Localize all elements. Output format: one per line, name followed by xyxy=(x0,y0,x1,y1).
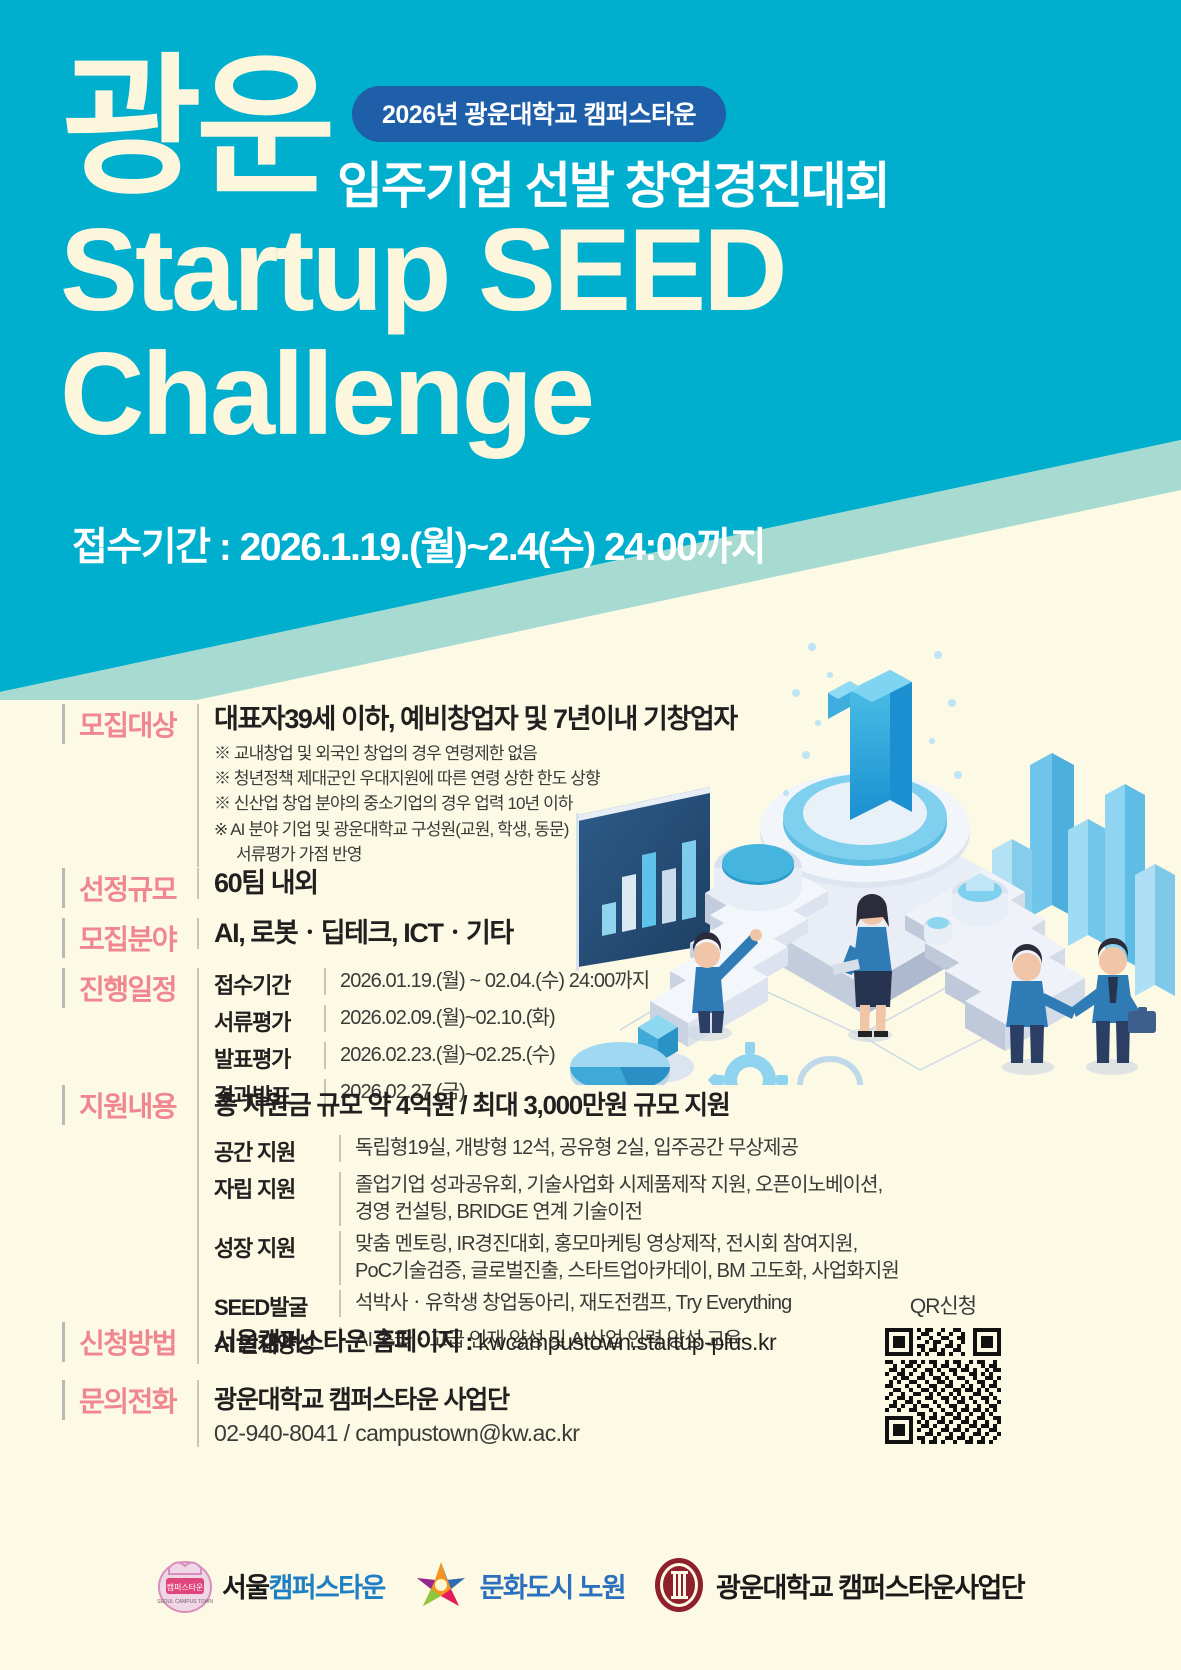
qr-label: QR신청 xyxy=(878,1290,1008,1320)
label-schedule: 진행일정 xyxy=(62,968,197,1008)
label-target: 모집대상 xyxy=(62,704,197,744)
support-val-1: 독립형19실, 개방형 12석, 공유형 2실, 입주공간 무상제공 xyxy=(339,1135,798,1162)
schedule-val-1: 2026.01.19.(월) ~ 02.04.(수) 24:00까지 xyxy=(324,968,649,995)
support-val-2-line1: 졸업기업 성과공유회, 기술사업화 시제품제작 지원, 오픈이노베이션, xyxy=(355,1172,882,1199)
kwangwoon-university-seal-icon xyxy=(651,1556,707,1614)
support-val-3-line2: PoC기술검증, 글로벌진출, 스타트업아카데이, BM 고도화, 사업화지원 xyxy=(355,1258,899,1285)
target-headline: 대표자39세 이하, 예비창업자 및 7년이내 기창업자 xyxy=(214,704,737,735)
footer-logos: 캠퍼스타운 SEOUL CAMPUS TOWN 서울캠퍼스타운 문화도시 노원 … xyxy=(0,1540,1181,1630)
support-key-1: 공간 지원 xyxy=(214,1135,339,1167)
target-note-5: 서류평가 가점 반영 xyxy=(214,842,737,867)
support-val-3: 맞춤 멘토링, IR경진대회, 홍모마케팅 영상제작, 전시회 참여지원, Po… xyxy=(339,1231,899,1285)
value-scale: 60팀 내외 xyxy=(197,868,318,899)
schedule-item: 서류평가 2026.02.09.(월)~02.10.(화) xyxy=(214,1005,649,1037)
support-headline: 총 지원금 규모 약 4억원 / 최대 3,000만원 규모 지원 xyxy=(214,1085,899,1122)
label-contact: 문의전화 xyxy=(62,1380,197,1420)
logo-seoul-accent: 캠퍼스타운 xyxy=(268,1573,384,1603)
value-apply: 서울캠퍼스타운 홈페이지 : kwcampustown.startup-plus… xyxy=(197,1322,776,1358)
row-target: 모집대상 대표자39세 이하, 예비창업자 및 7년이내 기창업자 ※ 교내창업… xyxy=(62,704,737,867)
hero-banner: 광운 2026년 광운대학교 캠퍼스타운 입주기업 선발 창업경진대회 Star… xyxy=(0,0,1181,700)
support-val-2: 졸업기업 성과공유회, 기술사업화 시제품제작 지원, 오픈이노베이션, 경영 … xyxy=(339,1172,882,1226)
logo-seoul-campustown-text: 서울캠퍼스타운 xyxy=(222,1566,385,1605)
event-title-line2: Challenge xyxy=(60,338,592,449)
logo-kwangwoon: 광운대학교 캠퍼스타운사업단 xyxy=(651,1556,1024,1614)
scale-value: 60팀 내외 xyxy=(214,868,318,899)
support-val-4-line1: 석박사ㆍ유학생 창업동아리, 재도전캠프, Try Everything xyxy=(355,1290,791,1317)
logo-seoul-campustown: 캠퍼스타운 SEOUL CAMPUS TOWN 서울캠퍼스타운 xyxy=(157,1556,385,1614)
schedule-val-3: 2026.02.23.(월)~02.25.(수) xyxy=(324,1042,555,1069)
support-val-3-line1: 맞춤 멘토링, IR경진대회, 홍모마케팅 영상제작, 전시회 참여지원, xyxy=(355,1231,899,1258)
schedule-key-2: 서류평가 xyxy=(214,1005,324,1037)
row-contact: 문의전화 광운대학교 캠퍼스타운 사업단 02-940-8041 / campu… xyxy=(62,1380,579,1447)
support-key-3: 성장 지원 xyxy=(214,1231,339,1263)
schedule-key-3: 발표평가 xyxy=(214,1042,324,1074)
support-key-2: 자립 지원 xyxy=(214,1172,339,1204)
support-item: SEED발굴 석박사ㆍ유학생 창업동아리, 재도전캠프, Try Everyth… xyxy=(214,1290,899,1322)
event-title-line1: Startup SEED xyxy=(60,214,785,325)
logo-seoul-pre: 서울 xyxy=(222,1573,268,1603)
label-fields: 모집분야 xyxy=(62,918,197,958)
seoul-campustown-emblem-icon: 캠퍼스타운 SEOUL CAMPUS TOWN xyxy=(157,1556,213,1614)
contact-detail: 02-940-8041 / campustown@kw.ac.kr xyxy=(214,1420,579,1447)
label-scale: 선정규모 xyxy=(62,868,197,908)
nowon-star-icon xyxy=(411,1556,471,1614)
apply-prefix: 서울캠퍼스타운 홈페이지 : xyxy=(214,1328,478,1356)
qr-code-icon[interactable] xyxy=(885,1328,1001,1444)
row-fields: 모집분야 AI, 로봇ㆍ딥테크, ICTㆍ기타 xyxy=(62,918,513,958)
row-scale: 선정규모 60팀 내외 xyxy=(62,868,318,908)
target-note-3: ※ 신산업 창업 분야의 중소기업의 경우 업력 10년 이하 xyxy=(214,791,737,816)
target-note-2: ※ 청년정책 제대군인 우대지원에 따른 연령 상한 한도 상향 xyxy=(214,766,737,791)
logo-nowon-accent: 문화도시 노원 xyxy=(480,1573,625,1603)
logo-nowon-text: 문화도시 노원 xyxy=(480,1566,625,1605)
target-note-1: ※ 교내창업 및 외국인 창업의 경우 연령제한 없음 xyxy=(214,741,737,766)
value-contact: 광운대학교 캠퍼스타운 사업단 02-940-8041 / campustown… xyxy=(197,1380,579,1447)
schedule-item: 접수기간 2026.01.19.(월) ~ 02.04.(수) 24:00까지 xyxy=(214,968,649,1000)
brand-kwangwoon: 광운 xyxy=(62,52,330,204)
logo-kwangwoon-text: 광운대학교 캠퍼스타운사업단 xyxy=(716,1566,1024,1605)
qr-block: QR신청 xyxy=(878,1290,1008,1449)
schedule-key-1: 접수기간 xyxy=(214,968,324,1000)
support-item: 자립 지원 졸업기업 성과공유회, 기술사업화 시제품제작 지원, 오픈이노베이… xyxy=(214,1172,899,1226)
fields-value: AI, 로봇ㆍ딥테크, ICTㆍ기타 xyxy=(214,918,513,949)
year-badge: 2026년 광운대학교 캠퍼스타운 xyxy=(352,86,726,142)
contact-org: 광운대학교 캠퍼스타운 사업단 xyxy=(214,1380,579,1416)
support-val-1-line1: 독립형19실, 개방형 12석, 공유형 2실, 입주공간 무상제공 xyxy=(355,1135,798,1162)
support-val-4: 석박사ㆍ유학생 창업동아리, 재도전캠프, Try Everything xyxy=(339,1290,791,1317)
row-apply: 신청방법 서울캠퍼스타운 홈페이지 : kwcampustown.startup… xyxy=(62,1322,776,1362)
label-apply: 신청방법 xyxy=(62,1322,197,1362)
apply-url[interactable]: kwcampustown.startup-plus.kr xyxy=(478,1329,776,1355)
schedule-item: 발표평가 2026.02.23.(월)~02.25.(수) xyxy=(214,1042,649,1074)
apply-line: 서울캠퍼스타운 홈페이지 : kwcampustown.startup-plus… xyxy=(214,1322,776,1358)
support-item: 공간 지원 독립형19실, 개방형 12석, 공유형 2실, 입주공간 무상제공 xyxy=(214,1135,899,1167)
value-target: 대표자39세 이하, 예비창업자 및 7년이내 기창업자 ※ 교내창업 및 외국… xyxy=(197,704,737,867)
logo-nowon: 문화도시 노원 xyxy=(411,1556,625,1614)
support-item: 성장 지원 맞춤 멘토링, IR경진대회, 홍모마케팅 영상제작, 전시회 참여… xyxy=(214,1231,899,1285)
value-fields: AI, 로봇ㆍ딥테크, ICTㆍ기타 xyxy=(197,918,513,949)
target-note-4: ※ AI 분야 기업 및 광운대학교 구성원(교원, 학생, 동문) xyxy=(214,817,737,842)
support-key-4: SEED발굴 xyxy=(214,1290,339,1322)
svg-text:캠퍼스타운: 캠퍼스타운 xyxy=(167,1582,204,1592)
label-support: 지원내용 xyxy=(62,1085,197,1125)
application-period-headline: 접수기간 : 2026.1.19.(월)~2.4(수) 24:00까지 xyxy=(72,516,765,572)
support-val-2-line2: 경영 컨설팅, BRIDGE 연계 기술이전 xyxy=(355,1199,882,1226)
svg-text:SEOUL CAMPUS TOWN: SEOUL CAMPUS TOWN xyxy=(157,1599,213,1605)
schedule-val-2: 2026.02.09.(월)~02.10.(화) xyxy=(324,1005,555,1032)
